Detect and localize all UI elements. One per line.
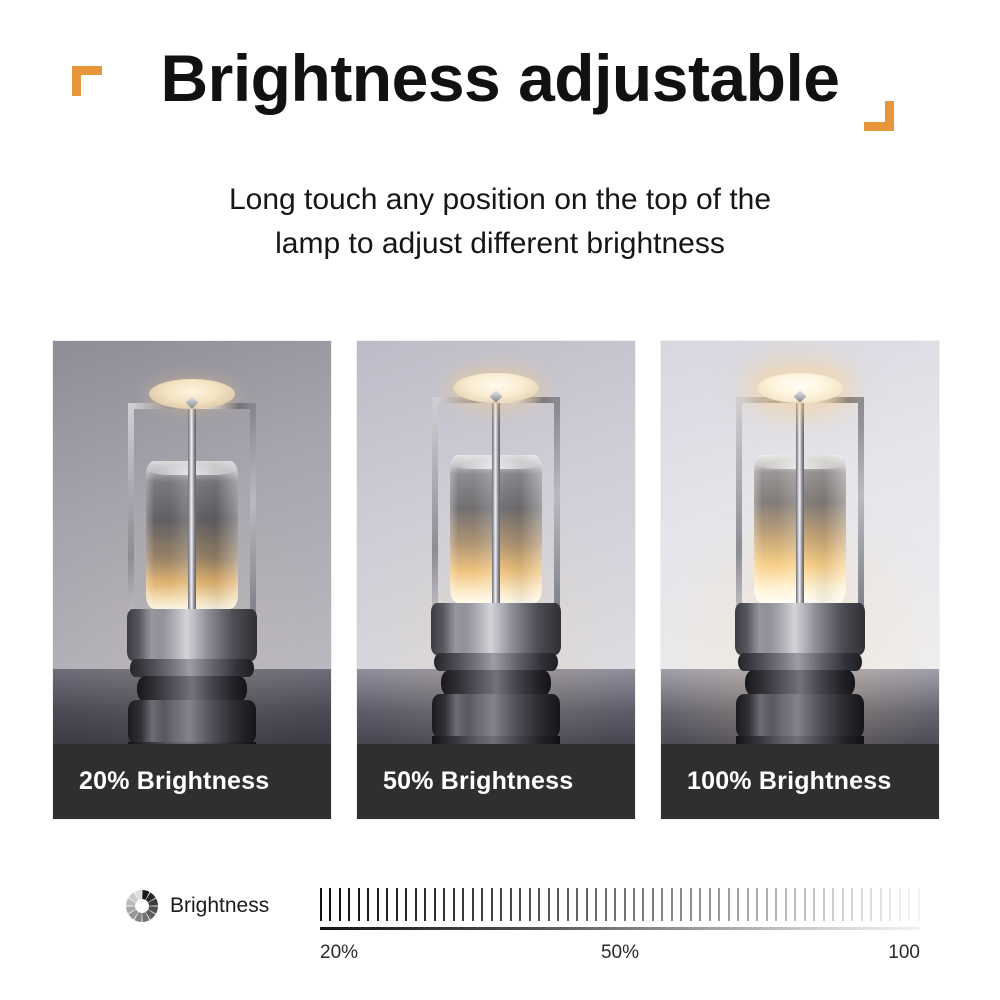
slider-tick (652, 888, 654, 921)
slider-label-mid: 50% (601, 940, 639, 966)
slider-tick (557, 888, 559, 921)
slider-tick (880, 888, 882, 921)
slider-tick (491, 888, 493, 921)
base-ring-top (127, 609, 257, 661)
slider-tick (481, 888, 483, 921)
slider-tick (699, 888, 701, 921)
slider-tick (624, 888, 626, 921)
slider-tick (870, 888, 872, 921)
base-ring-top (735, 603, 865, 655)
base-ring-body (432, 694, 560, 738)
slider-tick (386, 888, 388, 921)
panel-caption-text: 50% Brightness (383, 767, 573, 796)
slider-tick (567, 888, 569, 921)
base-ring-neck (130, 659, 254, 677)
slider-tick (405, 888, 407, 921)
slider-tick (747, 888, 749, 921)
slider-tick (614, 888, 616, 921)
slider-tick (605, 888, 607, 921)
lamp-center-post (492, 399, 500, 613)
slider-tick (756, 888, 758, 921)
slider-tick (586, 888, 588, 921)
base-ring-waist (745, 670, 855, 696)
slider-tick (642, 888, 644, 921)
slider-tick (462, 888, 464, 921)
slider-tick (785, 888, 787, 921)
base-ring-waist (441, 670, 551, 696)
page-title: Brightness adjustable (0, 28, 1000, 128)
base-ring-neck (434, 653, 558, 671)
brightness-label: Brightness (170, 891, 269, 921)
base-gloss (140, 609, 163, 661)
slider-label-min: 20% (320, 940, 358, 966)
slider-tick (851, 888, 853, 921)
brightness-comparison-gallery: 20% Brightness (52, 340, 940, 820)
panel-caption-bar: 50% Brightness (357, 744, 635, 819)
slider-tick (348, 888, 350, 921)
slider-tick (728, 888, 730, 921)
brightness-panel-50[interactable]: 50% Brightness (356, 340, 636, 820)
brightness-panel-20[interactable]: 20% Brightness (52, 340, 332, 820)
base-ring-neck (738, 653, 862, 671)
slider-tick (424, 888, 426, 921)
brightness-scale: Brightness 20% 50% 100 (52, 880, 940, 970)
slider-label-max: 100 (888, 940, 920, 966)
slider-tick (339, 888, 341, 921)
slider-tick (510, 888, 512, 921)
base-gloss (445, 694, 468, 738)
slider-tick (367, 888, 369, 921)
slider-ticks (320, 888, 920, 921)
slider-tick (529, 888, 531, 921)
slider-tick (889, 888, 891, 921)
slider-tick (908, 888, 910, 921)
slider-tick (377, 888, 379, 921)
slider-tick (671, 888, 673, 921)
slider-tick (538, 888, 540, 921)
product-photo-100 (661, 341, 939, 746)
subtitle-line-1: Long touch any position on the top of th… (0, 178, 1000, 222)
slider-tick (766, 888, 768, 921)
lamp-center-post (796, 399, 804, 613)
corner-bracket-close-icon (864, 101, 894, 131)
title-block: Brightness adjustable (0, 28, 1000, 138)
slider-tick (415, 888, 417, 921)
base-gloss (748, 603, 771, 655)
slider-tick (500, 888, 502, 921)
slider-tick (472, 888, 474, 921)
slider-axis-labels: 20% 50% 100 (320, 940, 920, 968)
slider-tick (794, 888, 796, 921)
slider-tick (899, 888, 901, 921)
slider-tick (396, 888, 398, 921)
slider-tick (823, 888, 825, 921)
slider-tick (813, 888, 815, 921)
panel-caption-bar: 100% Brightness (661, 744, 939, 819)
base-gloss (749, 694, 772, 738)
base-ring-body (128, 700, 256, 744)
slider-tick (718, 888, 720, 921)
slider-tick (775, 888, 777, 921)
slider-gradient-line (320, 927, 920, 930)
slider-tick (443, 888, 445, 921)
slider-tick (804, 888, 806, 921)
base-ring-body (736, 694, 864, 738)
slider-tick (918, 888, 920, 921)
slider-tick (709, 888, 711, 921)
slider-tick (358, 888, 360, 921)
header: Brightness adjustable Long touch any pos… (0, 0, 1000, 300)
slider-tick (329, 888, 331, 921)
slider-tick (434, 888, 436, 921)
slider-tick (576, 888, 578, 921)
slider-tick (690, 888, 692, 921)
product-photo-20 (53, 341, 331, 746)
slider-tick (842, 888, 844, 921)
slider-tick (320, 888, 322, 921)
slider-tick (861, 888, 863, 921)
brightness-wheel-icon (124, 888, 160, 924)
slider-tick (633, 888, 635, 921)
product-photo-50 (357, 341, 635, 746)
lamp-base (431, 603, 561, 746)
slider-tick (832, 888, 834, 921)
lamp-base (127, 609, 257, 746)
panel-caption-text: 100% Brightness (687, 767, 891, 796)
subtitle: Long touch any position on the top of th… (0, 178, 1000, 266)
lamp-base (735, 603, 865, 746)
base-gloss (141, 700, 164, 744)
subtitle-line-2: lamp to adjust different brightness (0, 222, 1000, 266)
brightness-slider-track[interactable]: 20% 50% 100 (320, 888, 920, 936)
lamp-center-post (188, 405, 196, 619)
panel-caption-bar: 20% Brightness (53, 744, 331, 819)
slider-tick (519, 888, 521, 921)
slider-tick (737, 888, 739, 921)
panel-caption-text: 20% Brightness (79, 767, 269, 796)
base-gloss (444, 603, 467, 655)
slider-tick (595, 888, 597, 921)
slider-tick (661, 888, 663, 921)
slider-tick (548, 888, 550, 921)
base-ring-waist (137, 676, 247, 702)
slider-tick (680, 888, 682, 921)
slider-tick (453, 888, 455, 921)
base-ring-top (431, 603, 561, 655)
brightness-panel-100[interactable]: 100% Brightness (660, 340, 940, 820)
